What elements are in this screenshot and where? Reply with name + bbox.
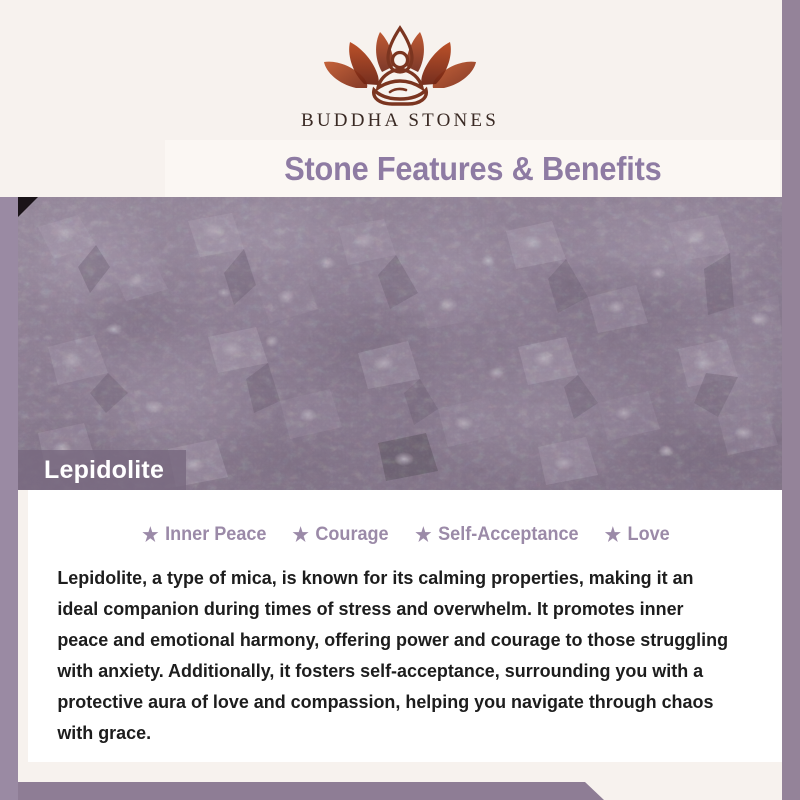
brand-header: BUDDHA STONES — [18, 0, 782, 145]
star-icon: ★ — [415, 526, 431, 545]
stone-photo — [18, 197, 782, 490]
poster-root: BUDDHA STONES Stone Features & Benefits — [0, 0, 800, 800]
benefit-tag-label: Courage — [315, 524, 388, 546]
star-icon: ★ — [142, 526, 158, 545]
stone-name: Lepidolite — [44, 456, 164, 485]
star-icon: ★ — [604, 526, 620, 545]
content-card: ★ Inner Peace ★ Courage ★ Self-Acceptanc… — [28, 490, 782, 762]
frame-right-accent — [782, 0, 800, 800]
lepidolite-crystal-texture — [18, 197, 782, 490]
benefit-tags: ★ Inner Peace ★ Courage ★ Self-Acceptanc… — [28, 490, 782, 546]
brand-logo: BUDDHA STONES — [301, 22, 499, 132]
benefit-tag-label: Self-Acceptance — [438, 524, 578, 546]
benefit-tag-courage: ★ Courage — [292, 524, 388, 546]
benefit-tag-label: Inner Peace — [165, 524, 266, 546]
section-title-band: Stone Features & Benefits — [165, 140, 780, 198]
photo-corner-notch — [18, 197, 38, 217]
stone-name-badge: Lepidolite — [18, 450, 186, 490]
benefit-tag-label: Love — [627, 524, 669, 546]
brand-name: BUDDHA STONES — [301, 110, 499, 132]
page-title: Stone Features & Benefits — [284, 150, 661, 188]
stone-description: Lepidolite, a type of mica, is known for… — [36, 562, 750, 748]
lotus-meditation-figure-icon — [312, 22, 488, 106]
benefit-tag-love: ★ Love — [604, 524, 669, 546]
benefit-tag-self-acceptance: ★ Self-Acceptance — [415, 524, 578, 546]
frame-bottom-accent — [0, 782, 800, 800]
frame-left-top-cover — [0, 0, 18, 197]
star-icon: ★ — [292, 526, 308, 545]
benefit-tag-inner-peace: ★ Inner Peace — [142, 524, 266, 546]
